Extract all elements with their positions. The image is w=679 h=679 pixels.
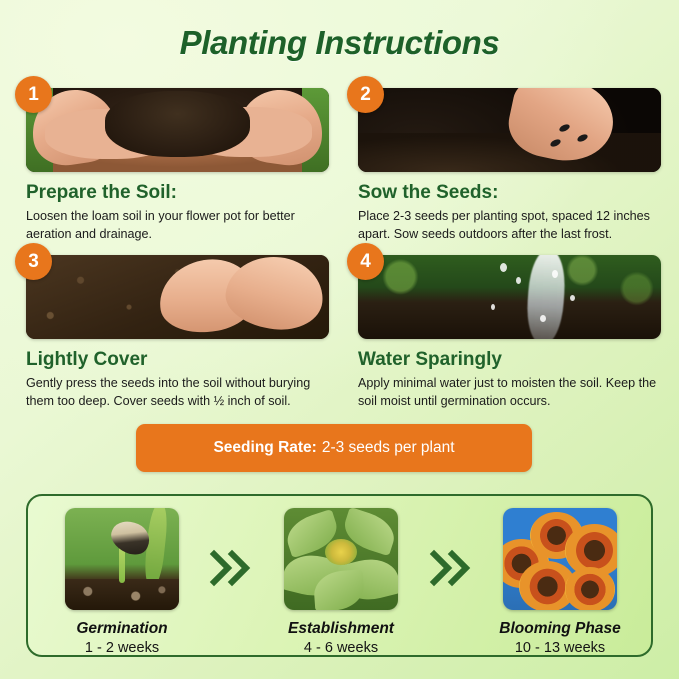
step-body-4: Apply minimal water just to moisten the …: [358, 375, 661, 411]
step-heading-1: Prepare the Soil:: [26, 183, 329, 203]
step-body-3: Gently press the seeds into the soil wit…: [26, 375, 329, 411]
timeline-stage-blooming: Blooming Phase 10 - 13 weeks: [490, 508, 630, 656]
timeline-stage-duration-2: 4 - 6 weeks: [271, 640, 411, 656]
step-body-1: Loosen the loam soil in your flower pot …: [26, 208, 329, 244]
timeline-stage-name-1: Germination: [52, 620, 192, 637]
young-sunflower-plant-image: [284, 508, 398, 610]
sprouting-seedling-image: [65, 508, 179, 610]
timeline-stage-name-2: Establishment: [271, 620, 411, 637]
step-image-2: [358, 88, 661, 172]
hands-holding-soil-in-flower-pot-image: [26, 88, 329, 172]
step-card-3: Lightly Cover Gently press the seeds int…: [26, 255, 329, 411]
step-badge-3: 3: [15, 243, 52, 280]
timeline-stage-establishment: Establishment 4 - 6 weeks: [271, 508, 411, 656]
step-card-4: Water Sparingly Apply minimal water just…: [358, 255, 661, 411]
step-heading-4: Water Sparingly: [358, 350, 661, 370]
seeding-rate-banner: Seeding Rate: 2-3 seeds per plant: [136, 424, 532, 472]
step-card-2: Sow the Seeds: Place 2-3 seeds per plant…: [358, 88, 661, 244]
watering-seedbed-image: [358, 255, 661, 339]
seeding-rate-label: Seeding Rate:: [213, 439, 316, 457]
hand-dropping-seeds-into-soil-image: [358, 88, 661, 172]
step-image-3: [26, 255, 329, 339]
double-chevron-right-icon-2: [428, 548, 474, 588]
step-badge-4: 4: [347, 243, 384, 280]
step-image-4: [358, 255, 661, 339]
planting-instructions-infographic: Planting Instructions Prepare the Soil: …: [0, 0, 679, 679]
timeline-stage-name-3: Blooming Phase: [490, 620, 630, 637]
timeline-stage-germination: Germination 1 - 2 weeks: [52, 508, 192, 656]
step-badge-2: 2: [347, 76, 384, 113]
step-card-1: Prepare the Soil: Loosen the loam soil i…: [26, 88, 329, 244]
step-heading-3: Lightly Cover: [26, 350, 329, 370]
step-badge-1: 1: [15, 76, 52, 113]
step-heading-2: Sow the Seeds:: [358, 183, 661, 203]
timeline-stage-duration-3: 10 - 13 weeks: [490, 640, 630, 656]
step-body-2: Place 2-3 seeds per planting spot, space…: [358, 208, 661, 244]
blooming-sunflowers-image: [503, 508, 617, 610]
timeline-stage-duration-1: 1 - 2 weeks: [52, 640, 192, 656]
step-image-1: [26, 88, 329, 172]
growth-timeline: Germination 1 - 2 weeks Establishmen: [26, 494, 653, 657]
page-title: Planting Instructions: [0, 24, 679, 62]
seeding-rate-value: 2-3 seeds per plant: [322, 439, 455, 457]
double-chevron-right-icon-1: [208, 548, 254, 588]
hands-patting-soil-image: [26, 255, 329, 339]
